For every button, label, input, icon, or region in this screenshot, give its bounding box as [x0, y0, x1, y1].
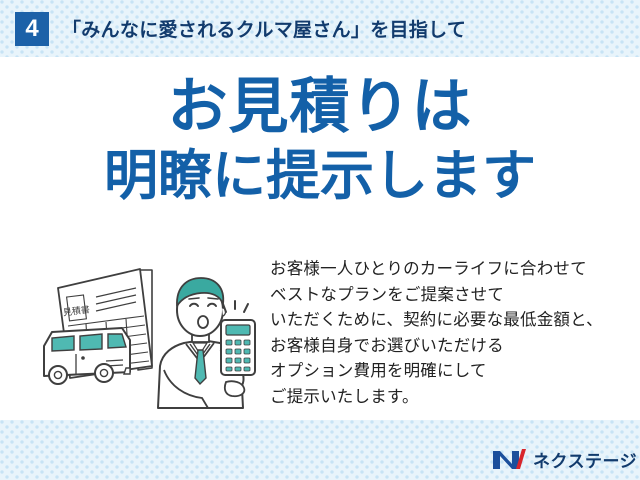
sparkle-icon — [223, 301, 248, 312]
body-copy-line: お客様一人ひとりのカーライフに合わせて — [270, 257, 640, 283]
calculator-icon — [221, 301, 255, 375]
body-copy-line: ご提示いたします。 — [270, 385, 640, 411]
nextage-n-mark-icon — [492, 447, 526, 471]
headline: お見積りは 明瞭に提示します — [0, 76, 640, 204]
header: 4 「みんなに愛されるクルマ屋さん」を目指して — [0, 0, 640, 57]
body-copy-line: ベストなプランをご提案させて — [270, 283, 640, 309]
headline-line-1: お見積りは — [0, 76, 640, 137]
promo-slide: 4 「みんなに愛されるクルマ屋さん」を目指して お見積りは 明瞭に提示します 見… — [0, 0, 640, 480]
body-copy-line: オプション費用を明確にして — [270, 359, 640, 385]
brand-logo: ネクステージ — [492, 446, 637, 472]
body-copy-line: いただくために、契約に必要な最低金額と、 — [270, 308, 640, 334]
body-copy: お客様一人ひとりのカーライフに合わせて ベストなプランをご提案させて いただくた… — [270, 257, 640, 410]
brand-name: ネクステージ — [533, 447, 637, 472]
step-number-badge: 4 — [15, 12, 49, 46]
illustration: 見積書 — [30, 258, 270, 418]
header-title: 「みんなに愛されるクルマ屋さん」を目指して — [62, 15, 466, 42]
headline-line-2: 明瞭に提示します — [0, 149, 640, 204]
body-copy-line: お客様自身でお選びいただける — [270, 334, 640, 360]
